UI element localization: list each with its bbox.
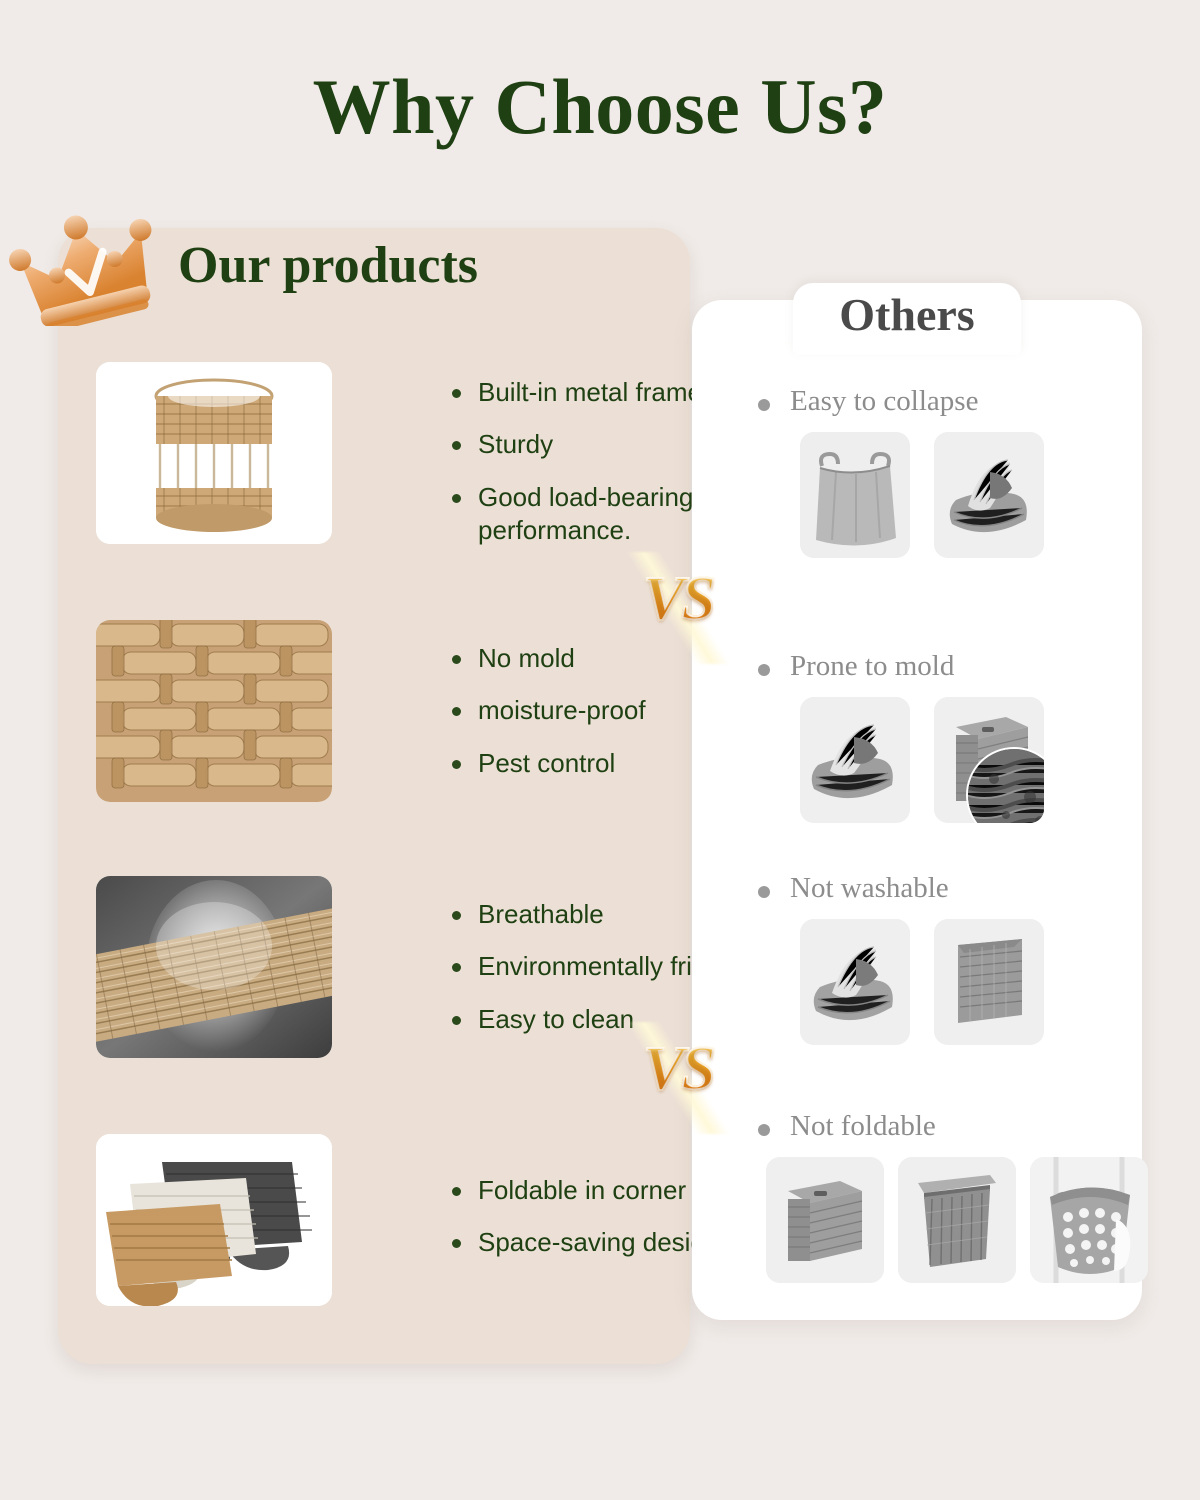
others-label-2: Prone to mold [752, 650, 1044, 683]
page-title: Why Choose Us? [0, 62, 1200, 152]
open-gray-hamper-photo [898, 1157, 1016, 1283]
rectangular-woven-hamper-photo [934, 919, 1044, 1045]
others-heading: Others [793, 288, 1021, 341]
others-label-1: Easy to collapse [752, 385, 1044, 418]
collapsed-fabric-hamper-photo [800, 432, 910, 558]
folded-baskets-stack-photo [96, 1134, 332, 1306]
woven-rattan-texture-photo [96, 620, 332, 802]
others-label-4: Not foldable [752, 1110, 1148, 1143]
wicker-basket-metal-frame-photo [96, 362, 332, 544]
vs-label: VS [630, 564, 726, 635]
vs-label: VS [630, 1034, 726, 1105]
vs-badge-top: VS [630, 548, 726, 668]
plastic-laundry-basket-photo [1030, 1157, 1148, 1283]
others-row-3: Not washable [752, 872, 1044, 1045]
breathable-wicker-smoke-photo [96, 876, 332, 1058]
others-row-4: Not foldable [752, 1110, 1148, 1283]
our-products-heading: Our products [178, 236, 478, 295]
lidded-woven-hamper-photo [934, 697, 1044, 823]
crumpled-woven-basket-photo [800, 697, 910, 823]
vs-badge-bottom: VS [630, 1018, 726, 1138]
others-row-2: Prone to mold [752, 650, 1044, 823]
crown-icon [8, 206, 168, 326]
others-label-3: Not washable [752, 872, 1044, 905]
crumpled-woven-basket-photo [934, 432, 1044, 558]
lidded-gray-hamper-photo [766, 1157, 884, 1283]
others-row-1: Easy to collapse [752, 385, 1044, 558]
crumpled-woven-basket-photo [800, 919, 910, 1045]
